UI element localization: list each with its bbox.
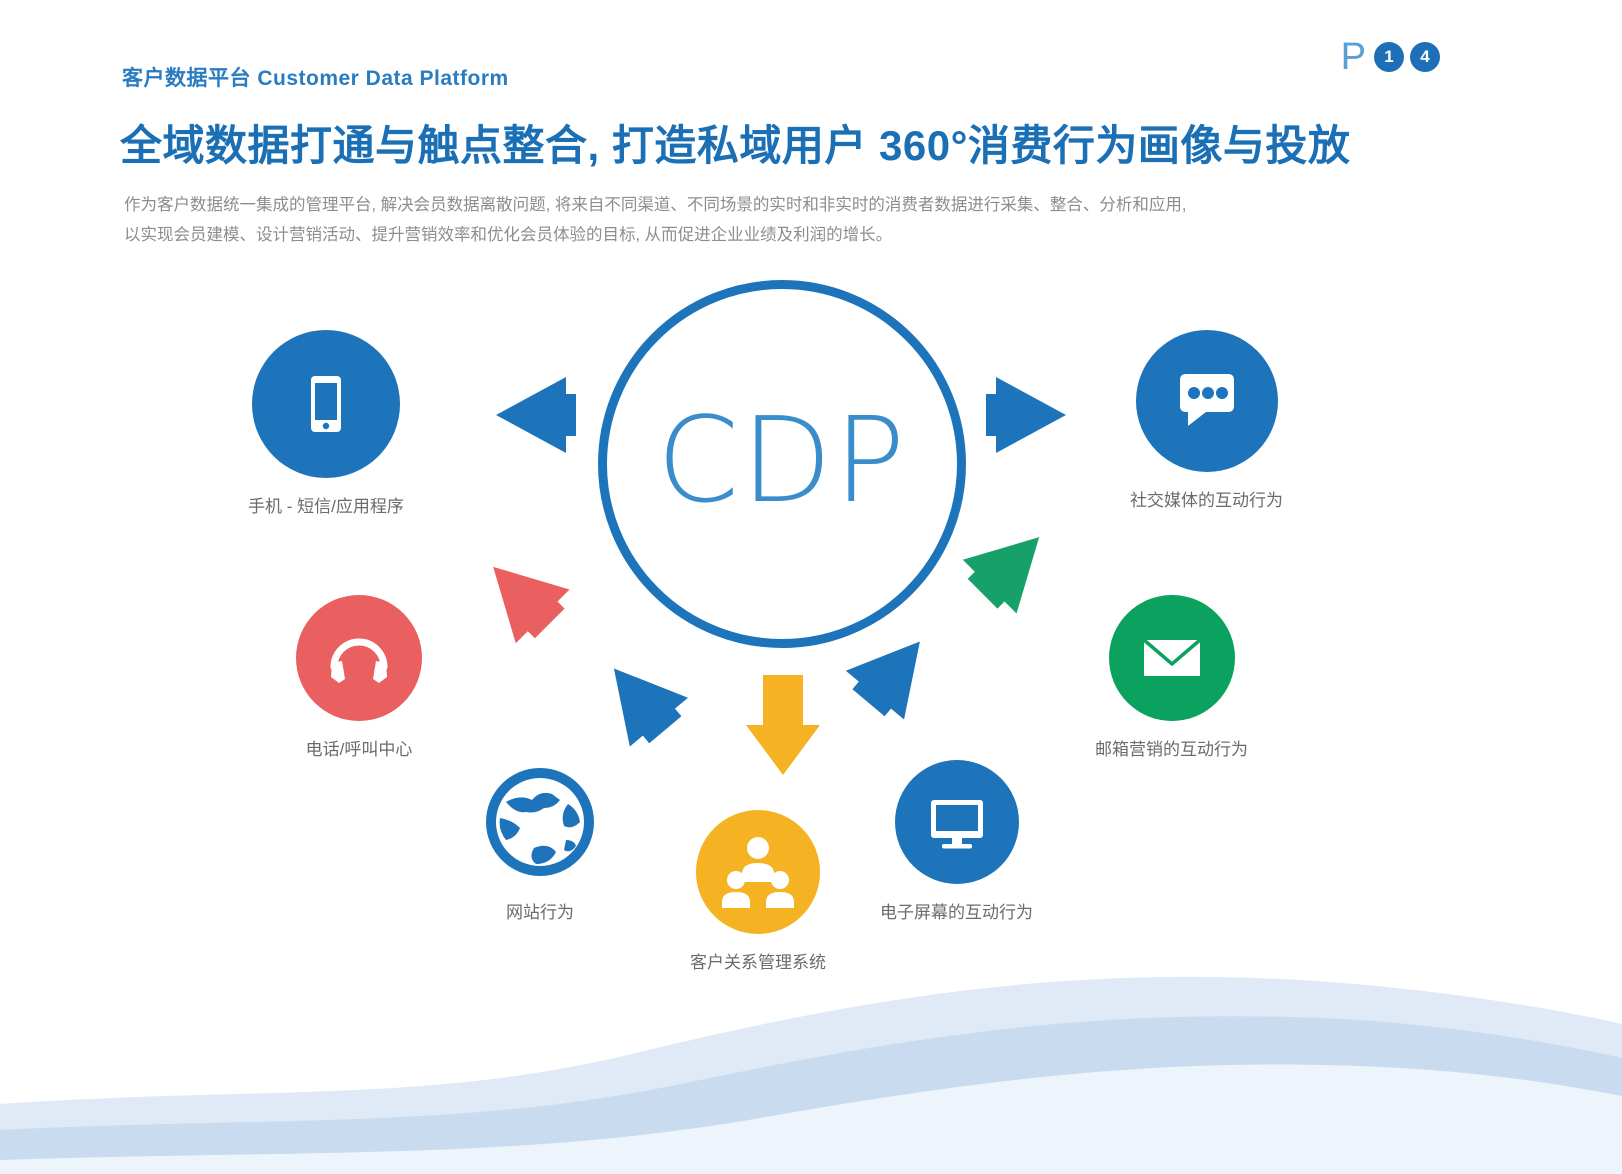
page-description: 作为客户数据统一集成的管理平台, 解决会员数据离散问题, 将来自不同渠道、不同场… xyxy=(124,190,1304,250)
globe-icon xyxy=(478,760,602,884)
node-call-center-label: 电话/呼叫中心 xyxy=(306,735,413,760)
smartphone-icon xyxy=(252,330,400,478)
monitor-icon xyxy=(895,760,1019,884)
node-social-media-label: 社交媒体的互动行为 xyxy=(1130,486,1283,511)
node-email-marketing[interactable]: 邮箱营销的互动行为 xyxy=(1095,595,1248,760)
page-prefix-letter: P xyxy=(1341,38,1366,76)
arrow-down-right xyxy=(839,617,949,727)
node-website[interactable]: 网站行为 xyxy=(478,760,602,923)
slide-page: 客户数据平台 Customer Data Platform 全域数据打通与触点整… xyxy=(0,0,1622,1174)
arrow-left xyxy=(496,377,576,453)
page-number-badge: P 1 4 xyxy=(1341,38,1440,76)
arrow-lower-right xyxy=(956,510,1066,620)
headset-icon xyxy=(296,595,422,721)
node-digital-screen-label: 电子屏幕的互动行为 xyxy=(880,898,1033,923)
description-line-2: 以实现会员建模、设计营销活动、提升营销效率和优化会员体验的目标, 从而促进企业业… xyxy=(124,220,1304,250)
description-line-1: 作为客户数据统一集成的管理平台, 解决会员数据离散问题, 将来自不同渠道、不同场… xyxy=(124,190,1304,220)
section-kicker: 客户数据平台 Customer Data Platform xyxy=(122,62,509,92)
envelope-icon xyxy=(1109,595,1235,721)
cdp-center-node: CDP xyxy=(598,280,966,648)
node-crm-label: 客户关系管理系统 xyxy=(690,948,826,973)
arrow-down xyxy=(746,675,820,775)
arrow-lower-left xyxy=(466,540,576,650)
node-email-marketing-label: 邮箱营销的互动行为 xyxy=(1095,735,1248,760)
node-website-label: 网站行为 xyxy=(506,898,574,923)
node-digital-screen[interactable]: 电子屏幕的互动行为 xyxy=(880,760,1033,923)
node-mobile-label: 手机 - 短信/应用程序 xyxy=(248,492,404,517)
cdp-diagram: CDP 手机 - 短信/应用程序 电话/呼叫中心 xyxy=(0,255,1622,1015)
node-mobile[interactable]: 手机 - 短信/应用程序 xyxy=(248,330,404,517)
page-title: 全域数据打通与触点整合, 打造私域用户 360°消费行为画像与投放 xyxy=(120,112,1350,173)
arrow-right xyxy=(986,377,1066,453)
org-chart-icon xyxy=(696,810,820,934)
node-call-center[interactable]: 电话/呼叫中心 xyxy=(296,595,422,760)
cdp-center-label: CDP xyxy=(657,401,907,519)
arrow-down-left xyxy=(585,644,695,754)
chat-bubble-icon xyxy=(1136,330,1278,472)
page-digit-ones: 4 xyxy=(1410,42,1440,72)
page-digit-tens: 1 xyxy=(1374,42,1404,72)
node-social-media[interactable]: 社交媒体的互动行为 xyxy=(1130,330,1283,511)
node-crm[interactable]: 客户关系管理系统 xyxy=(690,810,826,973)
